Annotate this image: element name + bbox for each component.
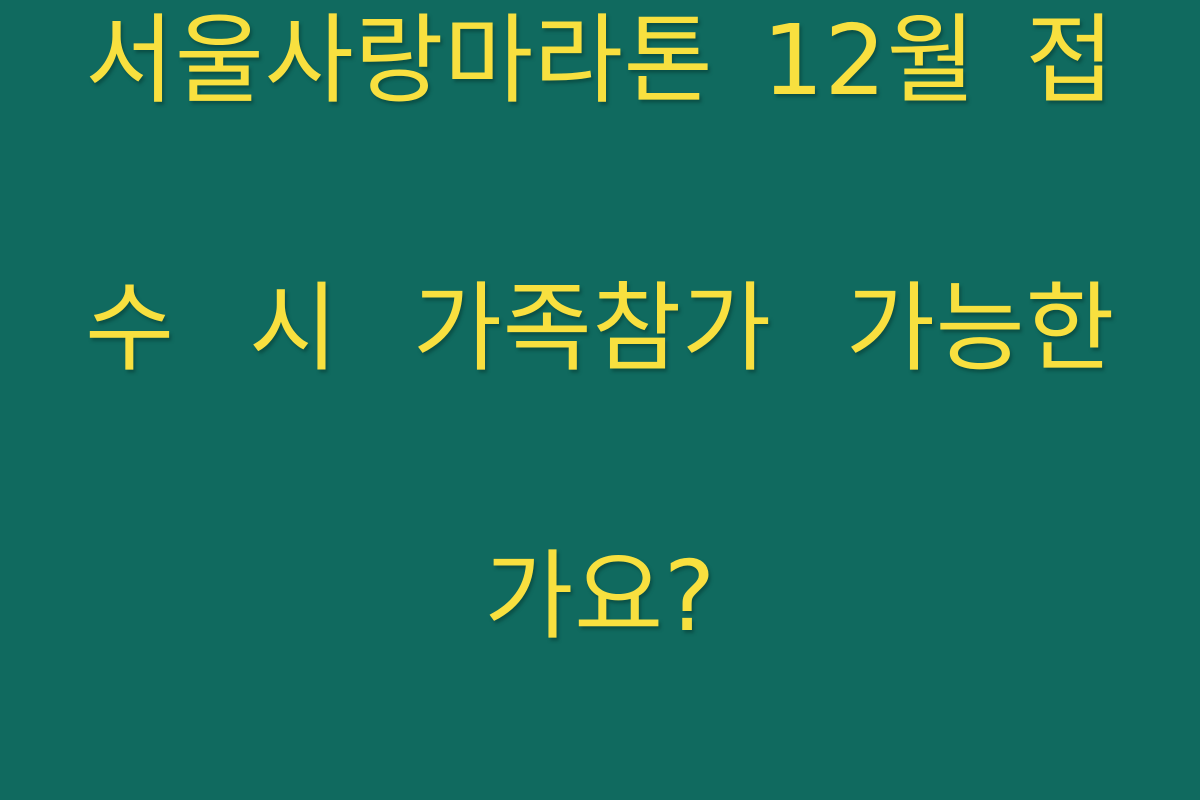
headline-line-2: 수 시 가족참가 가능한 bbox=[85, 262, 1115, 530]
headline-block: 서울사랑마라톤 12월 접 수 시 가족참가 가능한 가요? bbox=[85, 0, 1115, 798]
headline-line-1: 서울사랑마라톤 12월 접 bbox=[85, 0, 1115, 262]
headline-card: 서울사랑마라톤 12월 접 수 시 가족참가 가능한 가요? bbox=[0, 0, 1200, 800]
page-title: 서울사랑마라톤 12월 접 수 시 가족참가 가능한 가요? bbox=[85, 0, 1115, 798]
headline-line-3: 가요? bbox=[85, 530, 1115, 798]
